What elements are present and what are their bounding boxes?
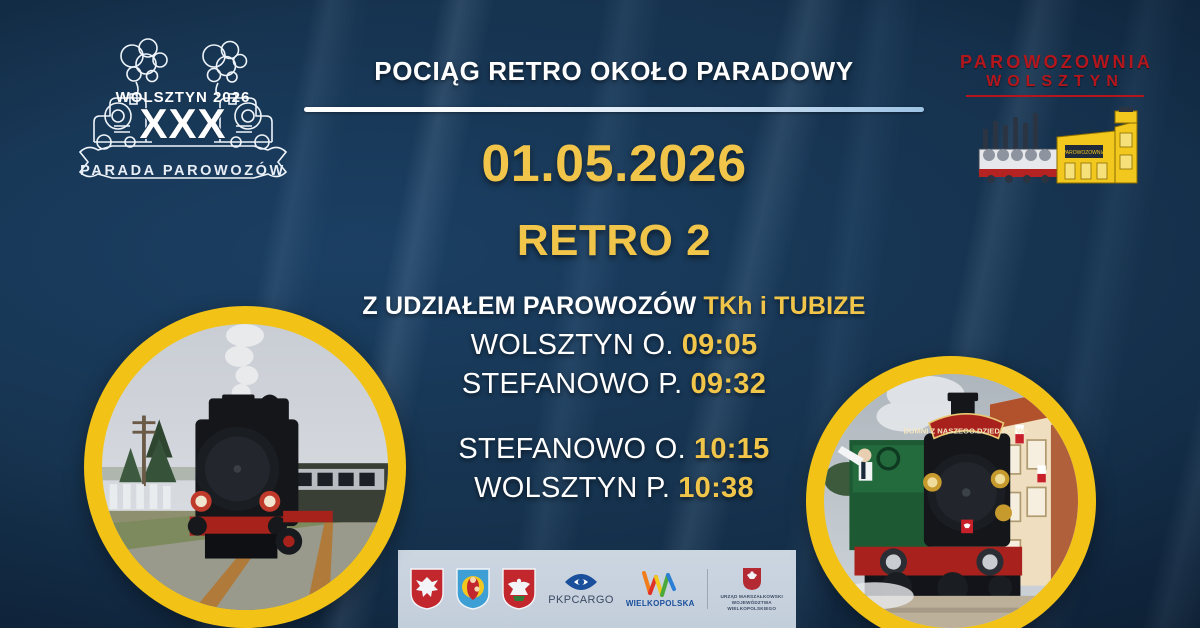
pkp-cargo-eye-icon (564, 573, 598, 591)
station-time: 10:38 (678, 472, 754, 504)
station-name: STEFANOWO O. (458, 433, 686, 465)
title-divider (304, 107, 924, 112)
green-steam-locomotive-illustration: DUMNI Z NASZEGO DZIEDZICTWA (824, 374, 1078, 628)
black-steam-locomotive-illustration (102, 324, 388, 610)
pkp-cargo-logo: PKPCARGO (548, 573, 614, 606)
table-row: WOLSZTYN O.09:05 (300, 326, 928, 365)
station-time: 09:05 (682, 329, 758, 361)
locomotives-names: TKh i TUBIZE (704, 292, 866, 320)
crest-eagle-red-icon (502, 568, 536, 610)
table-row: STEFANOWO P.09:32 (300, 365, 928, 404)
wielkopolska-logo: WIELKOPOLSKA (626, 571, 695, 608)
photo-circle-right: DUMNI Z NASZEGO DZIEDZICTWA (806, 356, 1096, 628)
wielkopolska-w-icon (640, 571, 680, 597)
station-name: WOLSZTYN O. (471, 329, 674, 361)
sponsor-divider (707, 569, 708, 609)
depot-logo-line1: PAROWOZOWNIA (960, 52, 1150, 72)
crest-wolsztyn-eagle-icon (410, 568, 444, 610)
green-steam-locomotive-photo: DUMNI Z NASZEGO DZIEDZICTWA (824, 374, 1078, 628)
event-date: 01.05.2026 (300, 134, 928, 194)
urzad-marszalkowski-logo: URZĄD MARSZAŁKOWSKI WOJEWÓDZTWA WIELKOPO… (720, 567, 784, 612)
station-name: WOLSZTYN P. (474, 472, 670, 504)
locomotives-prefix: Z UDZIAŁEM PAROWOZÓW (362, 292, 696, 320)
station-name: STEFANOWO P. (462, 368, 683, 400)
crest-madonna-blue-icon (456, 568, 490, 610)
photo-circle-left (84, 306, 406, 628)
emblem-numeral: XXX (139, 100, 226, 147)
station-time: 10:15 (694, 433, 770, 465)
parade-emblem-icon: XXX WOLSZTYN 2026 PARADA PAROWOZÓW (74, 30, 292, 195)
poster-root: XXX WOLSZTYN 2026 PARADA PAROWOZÓW PAROW… (0, 0, 1200, 628)
timetable-leg-outbound: WOLSZTYN O.09:05 STEFANOWO P.09:32 (300, 326, 928, 404)
station-time: 09:32 (690, 368, 766, 400)
parade-emblem: XXX WOLSZTYN 2026 PARADA PAROWOZÓW (74, 30, 292, 195)
black-steam-locomotive-photo (102, 324, 388, 610)
train-name: RETRO 2 (300, 216, 928, 266)
locomotives-line: Z UDZIAŁEM PAROWOZÓW TKh i TUBIZE (300, 292, 928, 321)
depot-logo-line2: WOLSZTYN (960, 72, 1150, 92)
svg-text:PAROWOZOWNIA: PAROWOZOWNIA (1063, 150, 1106, 156)
pkp-cargo-label: PKPCARGO (548, 594, 614, 606)
urzad-label: URZĄD MARSZAŁKOWSKI WOJEWÓDZTWA WIELKOPO… (720, 594, 784, 612)
roundhouse-building-icon: PAROWOZOWNIA (965, 103, 1145, 189)
locomotive-nameplate: DUMNI Z NASZEGO DZIEDZICTWA (903, 426, 1029, 435)
emblem-top-text: WOLSZTYN 2026 (116, 89, 251, 106)
depot-logo-rule (966, 95, 1144, 97)
sponsor-bar: PKPCARGO WIELKOPOLSKA URZĄD MARSZAŁKOWSK… (398, 550, 796, 628)
depot-logo: PAROWOZOWNIA WOLSZTYN (960, 52, 1150, 200)
centre-text-block: POCIĄG RETRO OKOŁO PARADOWY 01.05.2026 R… (300, 56, 928, 321)
wielkopolska-label: WIELKOPOLSKA (626, 599, 695, 608)
page-title: POCIĄG RETRO OKOŁO PARADOWY (300, 56, 928, 87)
emblem-banner-text: PARADA PAROWOZÓW (80, 161, 286, 179)
urzad-crest-icon (742, 567, 762, 591)
